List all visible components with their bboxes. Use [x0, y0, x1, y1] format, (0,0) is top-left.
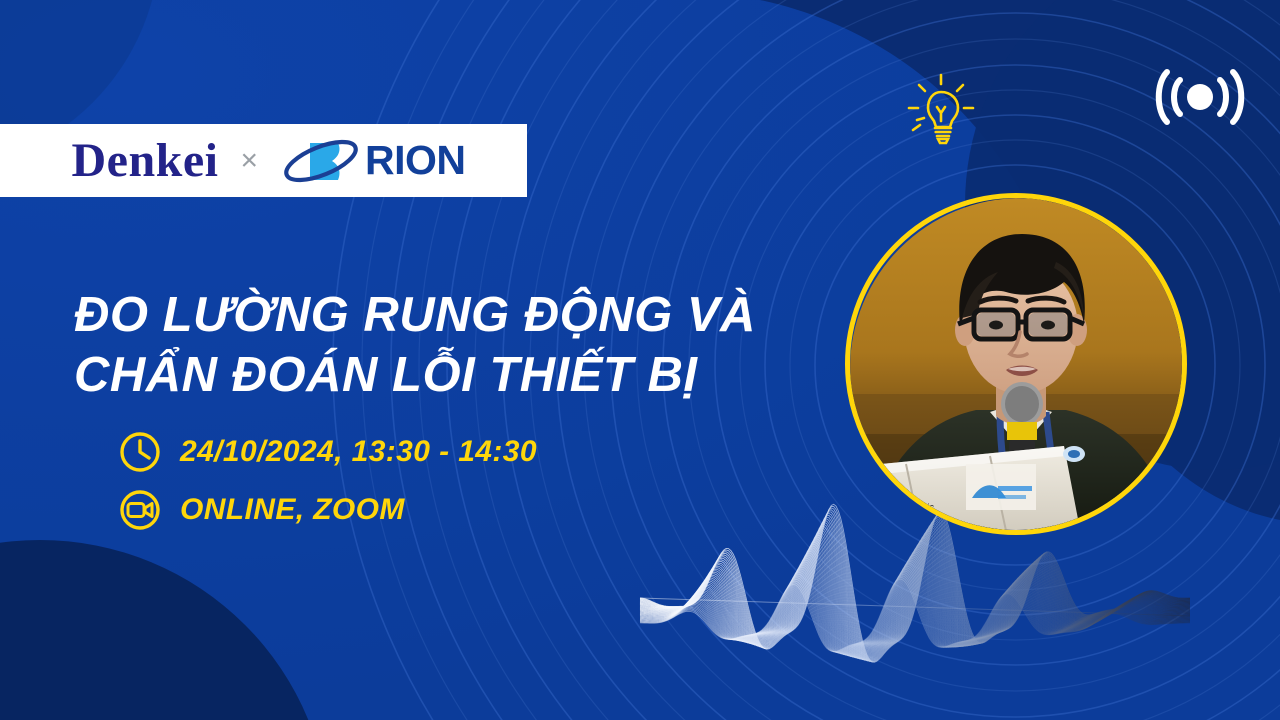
- event-meta: 24/10/2024, 13:30 - 14:30 ONLINE, ZOOM: [118, 430, 537, 546]
- event-location-text: ONLINE, ZOOM: [180, 495, 405, 525]
- title-line-1: ĐO LƯỜNG RUNG ĐỘNG VÀ: [74, 285, 834, 345]
- event-location-row: ONLINE, ZOOM: [118, 488, 537, 532]
- event-datetime-row: 24/10/2024, 13:30 - 14:30: [118, 430, 537, 474]
- speaker-portrait-illustration: Panasonic: [850, 198, 1182, 530]
- partner-logo-bar: Denkei × RION: [0, 124, 527, 197]
- speaker-photo: Panasonic: [845, 193, 1187, 535]
- broadcast-icon-wrap: [1155, 52, 1245, 147]
- rion-wordmark: RION: [365, 140, 466, 181]
- denkei-logo: Denkei: [61, 137, 218, 185]
- clock-icon: [118, 430, 162, 474]
- webinar-poster: Panasonic Denkei × RION: [0, 0, 1280, 720]
- rion-logo: RION: [280, 135, 466, 187]
- lightbulb-icon-wrap: [893, 58, 989, 159]
- rion-orbit-mark: [280, 135, 362, 187]
- speaker-portrait: Panasonic: [850, 198, 1182, 530]
- title-line-2: CHẨN ĐOÁN LỖI THIẾT BỊ: [74, 345, 834, 405]
- page-title: ĐO LƯỜNG RUNG ĐỘNG VÀ CHẨN ĐOÁN LỖI THIẾ…: [74, 285, 834, 406]
- logo-separator-x: ×: [240, 146, 258, 176]
- video-camera-icon: [118, 488, 162, 532]
- lightbulb-icon: [893, 58, 989, 154]
- broadcast-signal-icon: [1155, 52, 1245, 142]
- event-datetime-text: 24/10/2024, 13:30 - 14:30: [180, 437, 537, 467]
